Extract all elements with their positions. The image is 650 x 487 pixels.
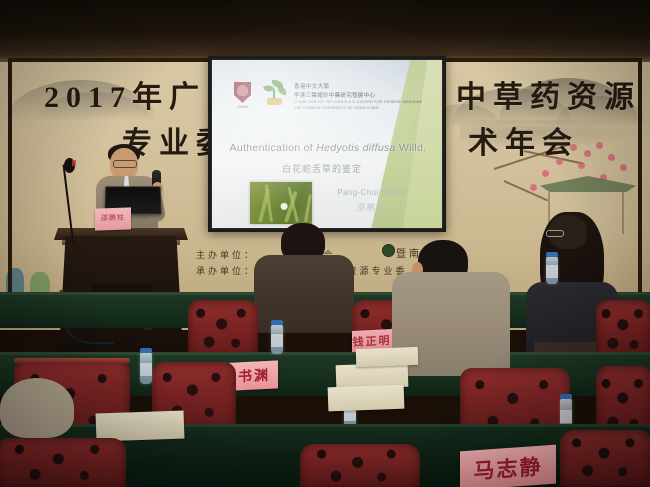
bottle-front-1 (140, 352, 152, 384)
cuhk-shield-caption: CUHK (228, 105, 258, 109)
slide-org-en-1: LI DAK SUN YIP YIO CHIN R & D CENTRE FOR… (294, 100, 422, 104)
paper-front-left (96, 410, 185, 441)
slide-org-cn-1: 香港中文大學 (294, 82, 329, 90)
bottle-mid-2 (546, 256, 558, 284)
slide-title: Authentication of Hedyotis diffusa Willd… (222, 142, 434, 154)
banner-title-right: 中草药资源 (456, 72, 641, 116)
chair-back-left (188, 300, 258, 360)
projection-screen: CUHK 香港中文大學 李達三葉耀珍中藥研究發展中心 LI DAK SUN YI… (212, 60, 442, 228)
chair-bottom-left (0, 438, 126, 487)
chair-front-left-trim (14, 358, 130, 363)
nameplate-ma-zhijing: 马志静 (460, 445, 556, 487)
audience-body-1 (254, 255, 354, 333)
cuhk-shield-icon (234, 82, 251, 103)
banner-title-left: 2017年广 (44, 72, 206, 116)
audience-head-4 (0, 378, 74, 438)
chair-bottom-right (560, 430, 650, 487)
table-middle-highlight (0, 352, 650, 355)
paper-front-right (328, 385, 405, 412)
audience-glasses-3 (546, 230, 564, 237)
podium-name-card: 邵鹏柱 (95, 207, 131, 230)
chair-bottom-mid (300, 444, 420, 487)
banner-subtitle-right: 术年会 (468, 118, 579, 162)
paper-mid-far-right (356, 347, 419, 367)
slide-title-species: Hedyotis diffusa (316, 142, 396, 154)
slide-subtitle-cn: 白花蛇舌草的鉴定 (222, 162, 422, 175)
bottle-mid-1 (271, 324, 283, 354)
slide-presenter-en: Pang-Chui SHAW (324, 188, 420, 197)
slide-org-cn-2: 李達三葉耀珍中藥研究發展中心 (294, 91, 375, 99)
slide-presenter-cn: 邵鹏柱 (324, 202, 420, 213)
university-seal-icon (382, 244, 395, 257)
slide-org-en-2: THE CHINESE UNIVERSITY OF HONG KONG (294, 106, 379, 110)
nameplate-ma-text: 马志静 (474, 450, 543, 485)
podium-name-card-text: 邵鹏柱 (95, 212, 131, 223)
slide-title-prefix: Authentication of (230, 142, 317, 154)
microphone-indicator (72, 160, 76, 166)
slide-title-suffix: Willd. (396, 142, 427, 154)
conference-photo: 2017年广 中草药资源 专业委 术年会 主办单位： 药学会 承办单位： 学会岭… (0, 0, 650, 487)
speaker-glasses (113, 160, 137, 168)
herb-specimen-photo (250, 182, 312, 224)
ceiling-band (0, 0, 650, 62)
leaf-logo-icon (264, 80, 288, 106)
